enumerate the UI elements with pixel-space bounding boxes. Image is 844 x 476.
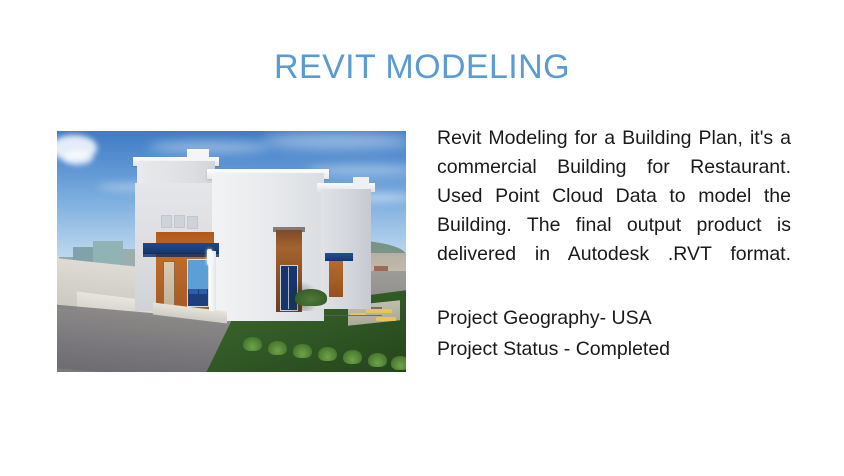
facade-vent [174, 215, 185, 228]
lawn-shrub [268, 341, 287, 355]
lawn-shrub [293, 344, 312, 358]
lawn-shrub [318, 347, 337, 361]
hedge-shrub [295, 289, 327, 306]
lawn-shrub [391, 356, 406, 370]
door-pane [188, 260, 208, 289]
cloud-shape [63, 151, 93, 165]
entrance-glass-door [187, 259, 209, 307]
building-parapet-cap [187, 149, 209, 159]
entrance-sidelight [163, 261, 175, 307]
project-description: Revit Modeling for a Building Plan, it's… [437, 124, 791, 298]
slide-canvas: REVIT MODELING [0, 0, 844, 476]
page-title: REVIT MODELING [0, 46, 844, 88]
wall-lamp [207, 249, 212, 265]
facade-vent [187, 216, 198, 229]
render-scene [57, 131, 406, 372]
description-text-block: Revit Modeling for a Building Plan, it's… [437, 124, 791, 365]
lawn-shrub [243, 337, 262, 351]
secondary-entrance [329, 261, 343, 297]
cloud-shape [149, 141, 269, 153]
secondary-awning [325, 253, 353, 261]
project-status: Project Status - Completed [437, 334, 791, 365]
project-geography: Project Geography- USA [437, 303, 791, 334]
building-chimney [353, 177, 369, 189]
building-rendering-image [57, 131, 406, 372]
lawn-shrub [368, 353, 387, 367]
lawn-shrub [343, 350, 362, 364]
facade-vent [161, 215, 172, 228]
cloud-shape [262, 133, 406, 149]
